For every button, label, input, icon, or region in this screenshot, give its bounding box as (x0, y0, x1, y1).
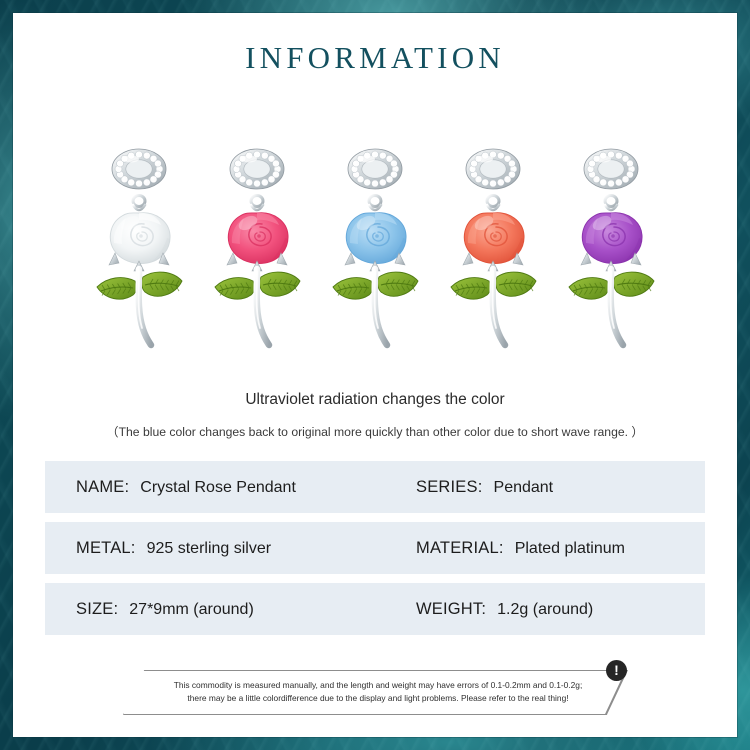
uv-caption-sub: （The blue color changes back to original… (13, 422, 737, 440)
spec-cell-right: WEIGHT:1.2g (around) (416, 600, 593, 619)
rose-flower-head (464, 213, 524, 264)
spec-key: WEIGHT: (416, 600, 486, 619)
leaf-left (333, 278, 372, 300)
leaf-right (142, 272, 182, 296)
spec-value: Plated platinum (515, 540, 625, 558)
rose-flower-head (110, 213, 170, 264)
crystal-bail-ring (348, 149, 402, 189)
leaf-left (215, 278, 254, 300)
spec-key: SERIES: (416, 478, 483, 497)
spec-value: 925 sterling silver (147, 540, 272, 558)
purple-crystal-rose-pendant[interactable] (559, 143, 663, 383)
orange-crystal-rose-pendant-graphic (441, 143, 545, 383)
spec-row: SIZE:27*9mm (around)WEIGHT:1.2g (around) (45, 583, 705, 635)
rose-flower-head (346, 213, 406, 264)
crystal-bail-ring (584, 149, 638, 189)
spec-key: NAME: (76, 478, 129, 497)
leaf-left (97, 278, 136, 300)
spec-row: NAME:Crystal Rose PendantSERIES:Pendant (45, 461, 705, 513)
page-title: INFORMATION (13, 40, 737, 76)
information-card: INFORMATION (13, 13, 737, 737)
blue-crystal-rose-pendant-graphic (323, 143, 427, 383)
product-variant-gallery (13, 143, 737, 388)
warning-exclamation-icon: ! (606, 660, 627, 681)
specification-table: NAME:Crystal Rose PendantSERIES:PendantM… (45, 461, 705, 644)
crystal-bail-ring (230, 149, 284, 189)
uv-caption-main: Ultraviolet radiation changes the color (13, 391, 737, 409)
spec-cell-right: SERIES:Pendant (416, 478, 553, 497)
blue-crystal-rose-pendant[interactable] (323, 143, 427, 383)
spec-value: 1.2g (around) (497, 601, 593, 619)
white-crystal-rose-pendant[interactable] (87, 143, 191, 383)
rose-flower-head (228, 213, 288, 264)
pink-crystal-rose-pendant[interactable] (205, 143, 309, 383)
spec-cell-left: NAME:Crystal Rose Pendant (76, 478, 416, 497)
disclaimer-text: This commodity is measured manually, and… (163, 679, 593, 705)
leaf-right (260, 272, 300, 296)
crystal-bail-ring (466, 149, 520, 189)
spec-key: MATERIAL: (416, 539, 504, 558)
spec-cell-left: SIZE:27*9mm (around) (76, 600, 416, 619)
connector-link (605, 188, 617, 210)
orange-crystal-rose-pendant[interactable] (441, 143, 545, 383)
disclaimer-line-2: there may be a little colordifference du… (163, 692, 593, 705)
spec-cell-right: MATERIAL:Plated platinum (416, 539, 625, 558)
spec-cell-left: METAL:925 sterling silver (76, 539, 416, 558)
spec-value: 27*9mm (around) (129, 601, 254, 619)
disclaimer-line-1: This commodity is measured manually, and… (163, 679, 593, 692)
connector-link (369, 188, 381, 210)
spec-row: METAL:925 sterling silverMATERIAL:Plated… (45, 522, 705, 574)
purple-crystal-rose-pendant-graphic (559, 143, 663, 383)
leaf-right (378, 272, 418, 296)
leaf-left (569, 278, 608, 300)
rose-flower-head (582, 213, 642, 264)
spec-value: Pendant (494, 479, 554, 497)
connector-link (251, 188, 263, 210)
connector-link (487, 188, 499, 210)
disclaimer-banner: This commodity is measured manually, and… (123, 670, 628, 715)
connector-link (133, 188, 145, 210)
white-crystal-rose-pendant-graphic (87, 143, 191, 383)
pink-crystal-rose-pendant-graphic (205, 143, 309, 383)
spec-key: SIZE: (76, 600, 118, 619)
spec-value: Crystal Rose Pendant (140, 479, 296, 497)
teal-marble-frame: INFORMATION (0, 0, 750, 750)
leaf-right (496, 272, 536, 296)
spec-key: METAL: (76, 539, 136, 558)
crystal-bail-ring (112, 149, 166, 189)
leaf-right (614, 272, 654, 296)
leaf-left (451, 278, 490, 300)
